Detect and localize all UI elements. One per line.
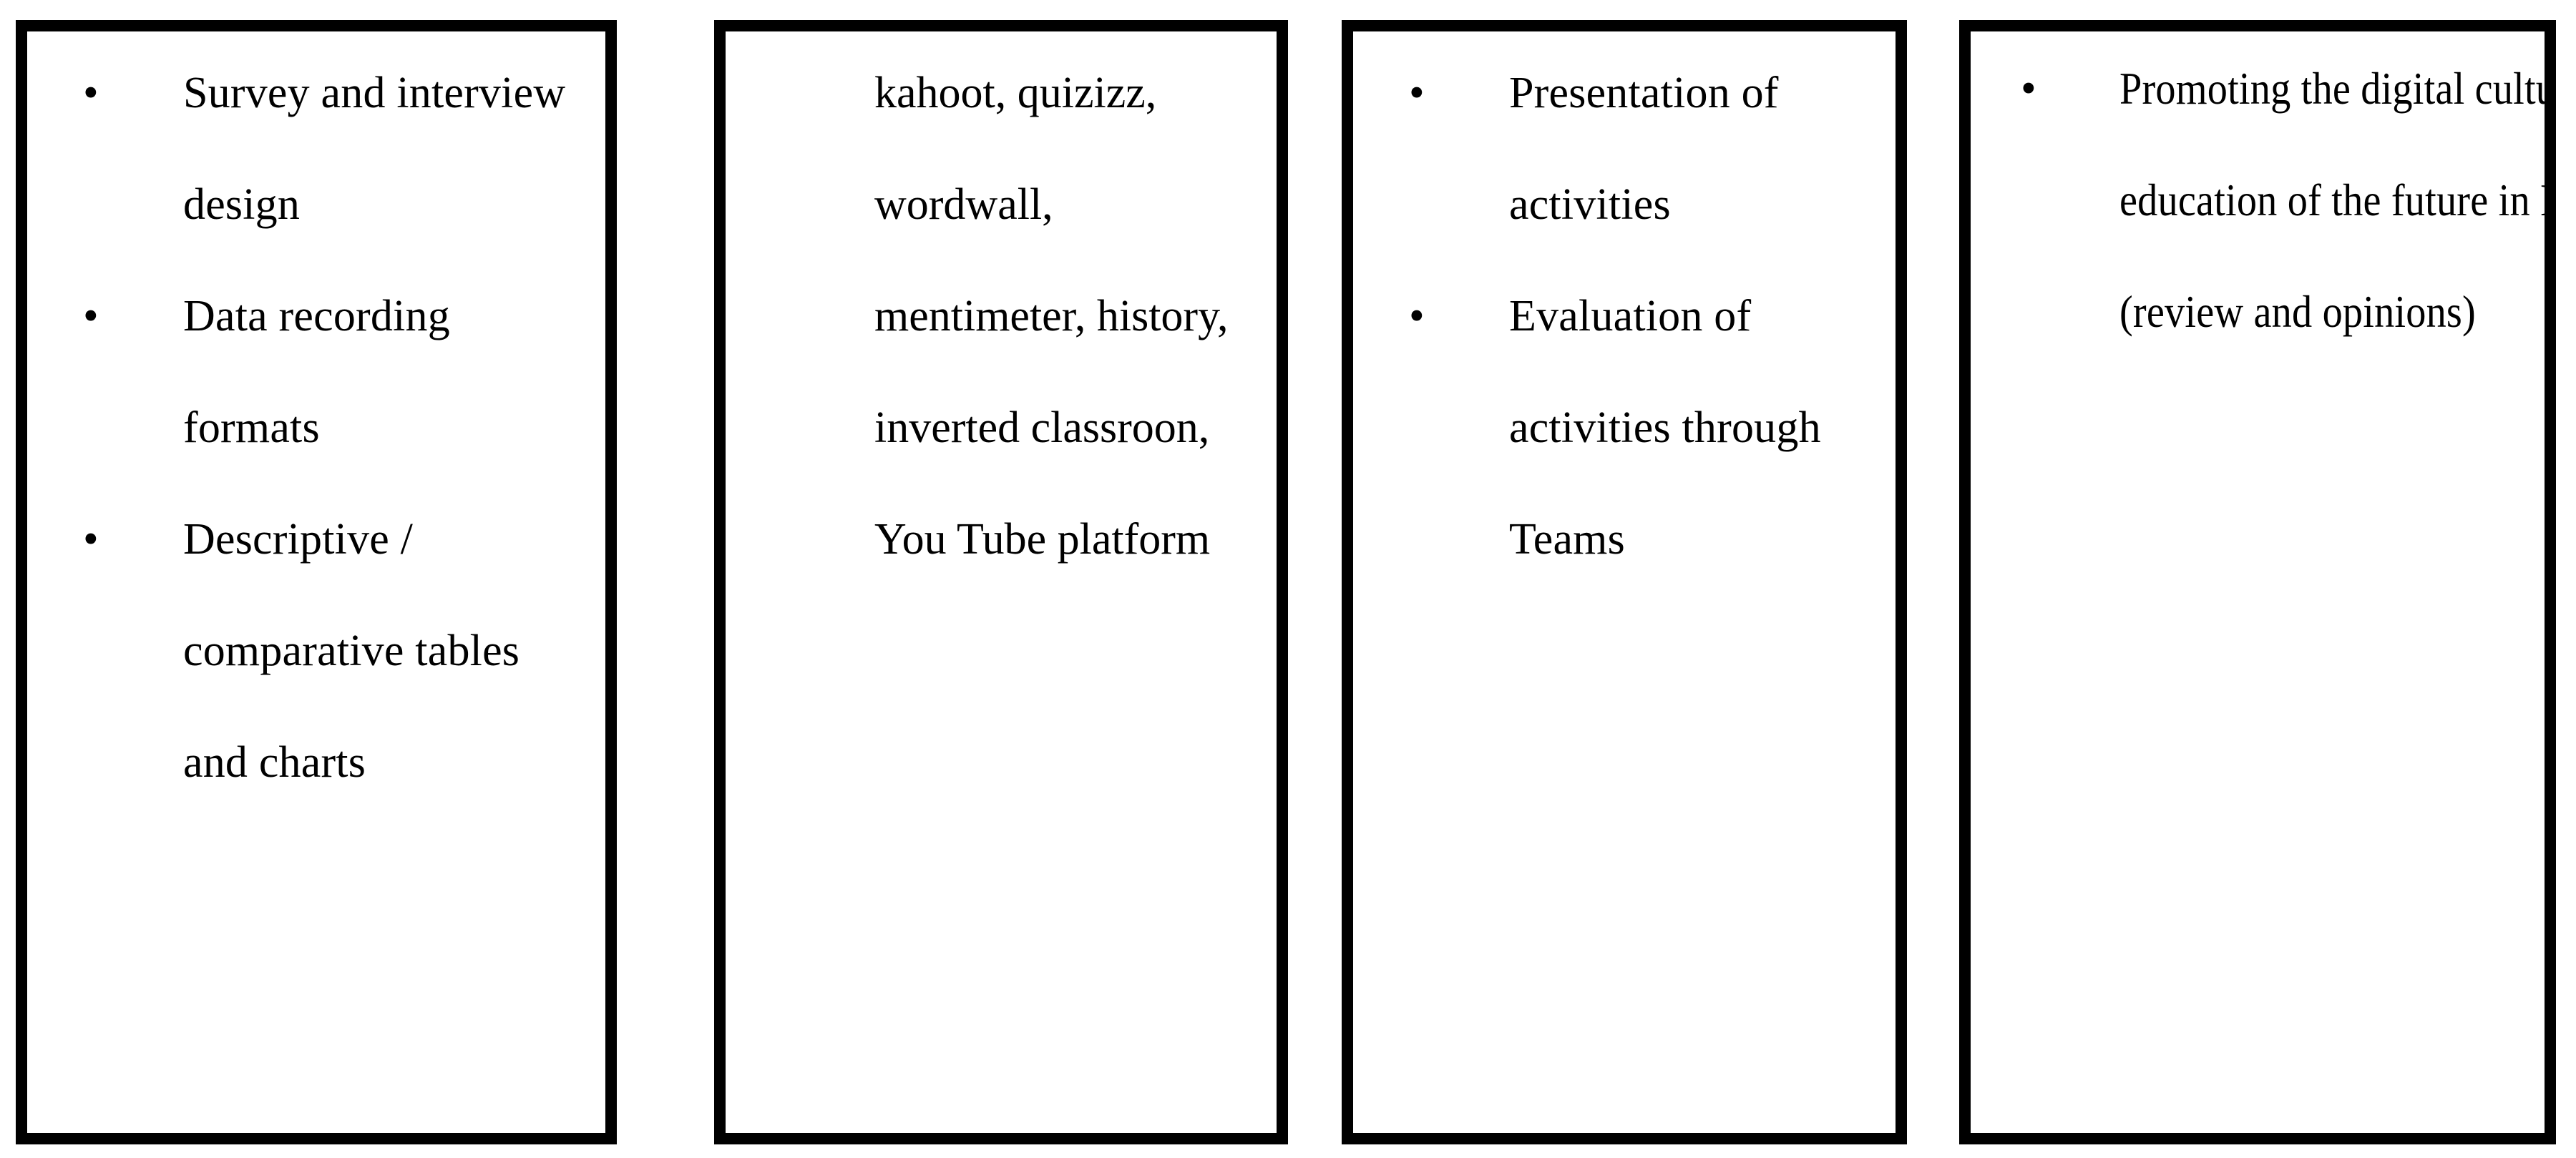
list-item: • Survey and interview design [27, 37, 605, 260]
list-item-text: Survey and interview design [183, 37, 605, 260]
content-box-2: kahoot, quizizz, wordwall, mentimeter, h… [714, 20, 1288, 1144]
list-item-text: Promoting the digital culture in the edu… [2119, 33, 2556, 368]
content-box-4-inner: • Promoting the digital culture in the e… [1971, 31, 2545, 1133]
bullet-icon: • [83, 484, 183, 595]
list-item-text: Presentation of activities [1509, 37, 1896, 260]
content-box-3: • Presentation of activities • Evaluatio… [1342, 20, 1907, 1144]
content-box-1-inner: • Survey and interview design • Data rec… [27, 31, 605, 1133]
list-item: • Data recording formats [27, 260, 605, 484]
bullet-list-3: • Presentation of activities • Evaluatio… [1353, 31, 1896, 595]
bullet-list-4: • Promoting the digital culture in the e… [1971, 31, 2545, 368]
list-item: • Evaluation of activities through Teams [1353, 260, 1896, 595]
list-item-text: Descriptive / comparative tables and cha… [183, 484, 605, 818]
list-item-text: Evaluation of activities through Teams [1509, 260, 1896, 595]
tools-text: kahoot, quizizz, wordwall, mentimeter, h… [726, 31, 1277, 595]
content-box-4: • Promoting the digital culture in the e… [1959, 20, 2556, 1144]
bullet-list-1: • Survey and interview design • Data rec… [27, 31, 605, 818]
bullet-icon: • [2021, 33, 2121, 144]
content-box-1: • Survey and interview design • Data rec… [16, 20, 617, 1144]
content-box-3-inner: • Presentation of activities • Evaluatio… [1353, 31, 1896, 1133]
list-item: • Promoting the digital culture in the e… [1971, 33, 2545, 368]
content-box-2-inner: kahoot, quizizz, wordwall, mentimeter, h… [726, 31, 1277, 1133]
list-item: • Presentation of activities [1353, 37, 1896, 260]
page-canvas: • Survey and interview design • Data rec… [0, 0, 2576, 1158]
bullet-icon: • [1409, 260, 1509, 372]
list-item-text: Data recording formats [183, 260, 605, 484]
bullet-icon: • [83, 260, 183, 372]
bullet-icon: • [83, 37, 183, 149]
bullet-icon: • [1409, 37, 1509, 149]
list-item: • Descriptive / comparative tables and c… [27, 484, 605, 818]
